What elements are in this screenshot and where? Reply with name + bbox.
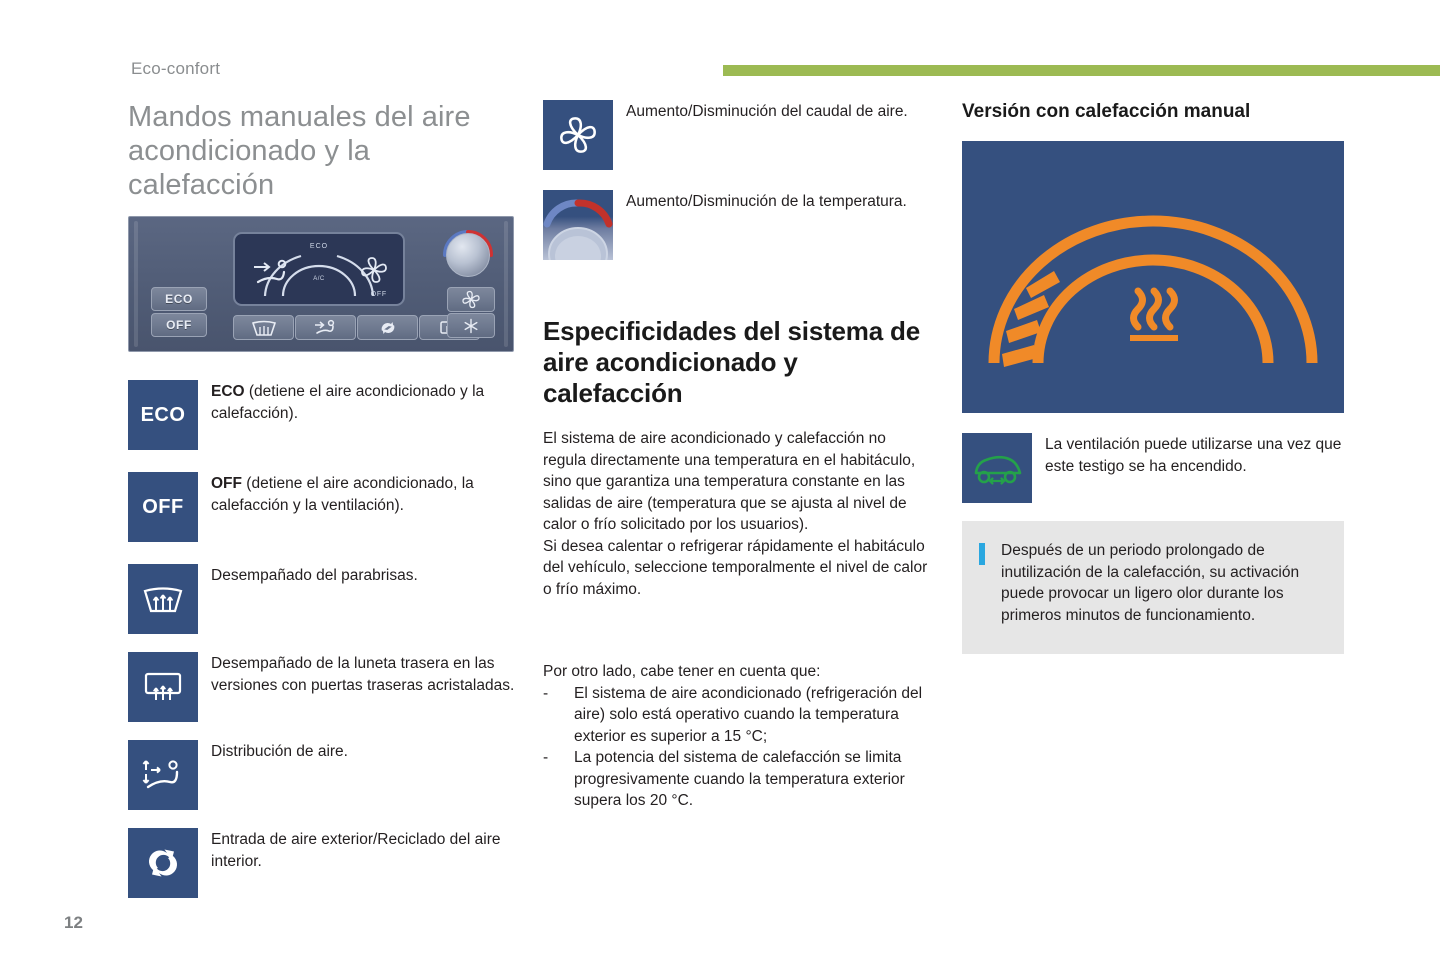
list-item-label: Desempañado del parabrisas. (211, 564, 418, 587)
snowflake-icon (463, 318, 479, 334)
list-item: ECO ECO (detiene el aire acondicionado y… (128, 380, 520, 450)
temperature-knob-icon (543, 190, 613, 260)
bullet-text: El sistema de aire acondicionado (refrig… (574, 683, 933, 748)
page-title: Mandos manuales del aire acondicionado y… (128, 100, 520, 202)
info-box-text: Después de un periodo prolongado de inut… (1001, 540, 1324, 626)
air-distribution-icon (128, 740, 198, 810)
notes-intro: Por otro lado, cabe tener en cuenta que: (543, 661, 933, 683)
heated-windscreen-glyph (962, 141, 1344, 413)
rear-window-demist-glyph (142, 670, 184, 704)
list-item: La ventilación puede utilizarse una vez … (962, 433, 1344, 503)
heated-windscreen-indicator-image (962, 141, 1344, 413)
windscreen-demist-glyph (142, 584, 184, 614)
vehicle-ventilation-icon (962, 433, 1032, 503)
windscreen-demist-icon (251, 319, 277, 337)
left-column: Mandos manuales del aire acondicionado y… (128, 100, 520, 898)
hvac-control-panel-image: ECO OFF A/C (128, 216, 514, 352)
right-column: Versión con calefacción manual (962, 100, 1344, 654)
air-recirculation-icon (378, 319, 398, 337)
list-item-label: Distribución de aire. (211, 740, 348, 763)
list-item: Desempañado del parabrisas. (128, 564, 520, 634)
list-item-label-rest: (detiene el aire acondicionado, la calef… (211, 475, 474, 514)
list-item-label-rest: (detiene el aire acondicionado y la cale… (211, 383, 484, 422)
display-eco-label: ECO (310, 243, 328, 250)
bullet-text: La potencia del sistema de calefacción s… (574, 747, 933, 812)
fan-speed-icon (543, 100, 613, 170)
panel-edge-right (504, 221, 508, 347)
panel-recirculation-button[interactable] (357, 315, 418, 340)
bullet-marker: - (543, 683, 574, 748)
display-ac-label: A/C (313, 276, 325, 282)
list-item: Distribución de aire. (128, 740, 520, 810)
middle-column: Aumento/Disminución del caudal de aire. … (543, 100, 933, 812)
list-item: - El sistema de aire acondicionado (refr… (543, 683, 933, 748)
air-distribution-glyph (140, 756, 186, 794)
air-distribution-display-icon (251, 258, 297, 288)
section-title-manual-heating: Versión con calefacción manual (962, 100, 1344, 124)
list-item-label: Entrada de aire exterior/Reciclado del a… (211, 828, 520, 872)
list-item-label: ECO (detiene el aire acondicionado y la … (211, 380, 520, 424)
specs-paragraph-1: El sistema de aire acondicionado y calef… (543, 428, 933, 536)
hvac-display-screen: ECO OFF A/C (233, 232, 405, 306)
panel-ac-button[interactable] (447, 313, 495, 338)
temperature-knob[interactable] (439, 225, 497, 283)
rear-window-demist-icon (128, 652, 198, 722)
panel-off-button[interactable]: OFF (151, 313, 207, 337)
vehicle-ventilation-glyph (971, 449, 1023, 487)
list-item-label-bold: ECO (211, 383, 245, 400)
fan-speed-glyph (558, 116, 598, 154)
specs-paragraph-2: Si desea calentar o refrigerar rápidamen… (543, 536, 933, 601)
panel-eco-button[interactable]: ECO (151, 287, 207, 311)
panel-fan-speed-button[interactable] (447, 287, 495, 312)
list-item: Aumento/Disminución de la temperatura. (543, 190, 933, 260)
display-off-label: OFF (371, 291, 387, 298)
section-title-specs: Especificidades del sistema de aire acon… (543, 316, 933, 409)
windscreen-demist-icon (128, 564, 198, 634)
list-item-label: Aumento/Disminución de la temperatura. (626, 190, 907, 213)
fan-speed-icon (461, 290, 481, 309)
panel-edge-left (134, 221, 138, 347)
list-item-label: OFF (detiene el aire acondicionado, la c… (211, 472, 520, 516)
header-rule (723, 65, 1440, 76)
bullet-marker: - (543, 747, 574, 812)
panel-windscreen-demist-button[interactable] (233, 315, 294, 340)
fan-display-icon (359, 256, 389, 284)
eco-button-icon: ECO (128, 380, 198, 450)
temperature-knob-glyph (543, 190, 613, 260)
list-item-label: Desempañado de la luneta trasera en las … (211, 652, 520, 696)
off-button-icon: OFF (128, 472, 198, 542)
list-item: Aumento/Disminución del caudal de aire. (543, 100, 933, 170)
list-item: OFF OFF (detiene el aire acondicionado, … (128, 472, 520, 542)
running-head: Eco-confort (131, 59, 220, 79)
info-icon (979, 543, 985, 565)
off-tile-text: OFF (142, 496, 184, 519)
air-recirculation-icon (128, 828, 198, 898)
list-item-label: La ventilación puede utilizarse una vez … (1045, 433, 1344, 477)
manual-page: Eco-confort Mandos manuales del aire aco… (0, 0, 1445, 977)
notes-list: - El sistema de aire acondicionado (refr… (543, 683, 933, 812)
panel-air-distribution-button[interactable] (295, 315, 356, 340)
air-recirculation-glyph (144, 844, 182, 882)
list-item-label: Aumento/Disminución del caudal de aire. (626, 100, 908, 123)
page-number: 12 (64, 913, 83, 933)
knob-dial[interactable] (446, 233, 490, 277)
notes-block: Por otro lado, cabe tener en cuenta que:… (543, 661, 933, 812)
list-item: - La potencia del sistema de calefacción… (543, 747, 933, 812)
specs-body: El sistema de aire acondicionado y calef… (543, 428, 933, 600)
list-item-label-bold: OFF (211, 475, 242, 492)
list-item: Entrada de aire exterior/Reciclado del a… (128, 828, 520, 898)
list-item: Desempañado de la luneta trasera en las … (128, 652, 520, 722)
info-box: Después de un periodo prolongado de inut… (962, 521, 1344, 654)
air-distribution-icon (313, 319, 339, 337)
eco-tile-text: ECO (141, 404, 186, 427)
